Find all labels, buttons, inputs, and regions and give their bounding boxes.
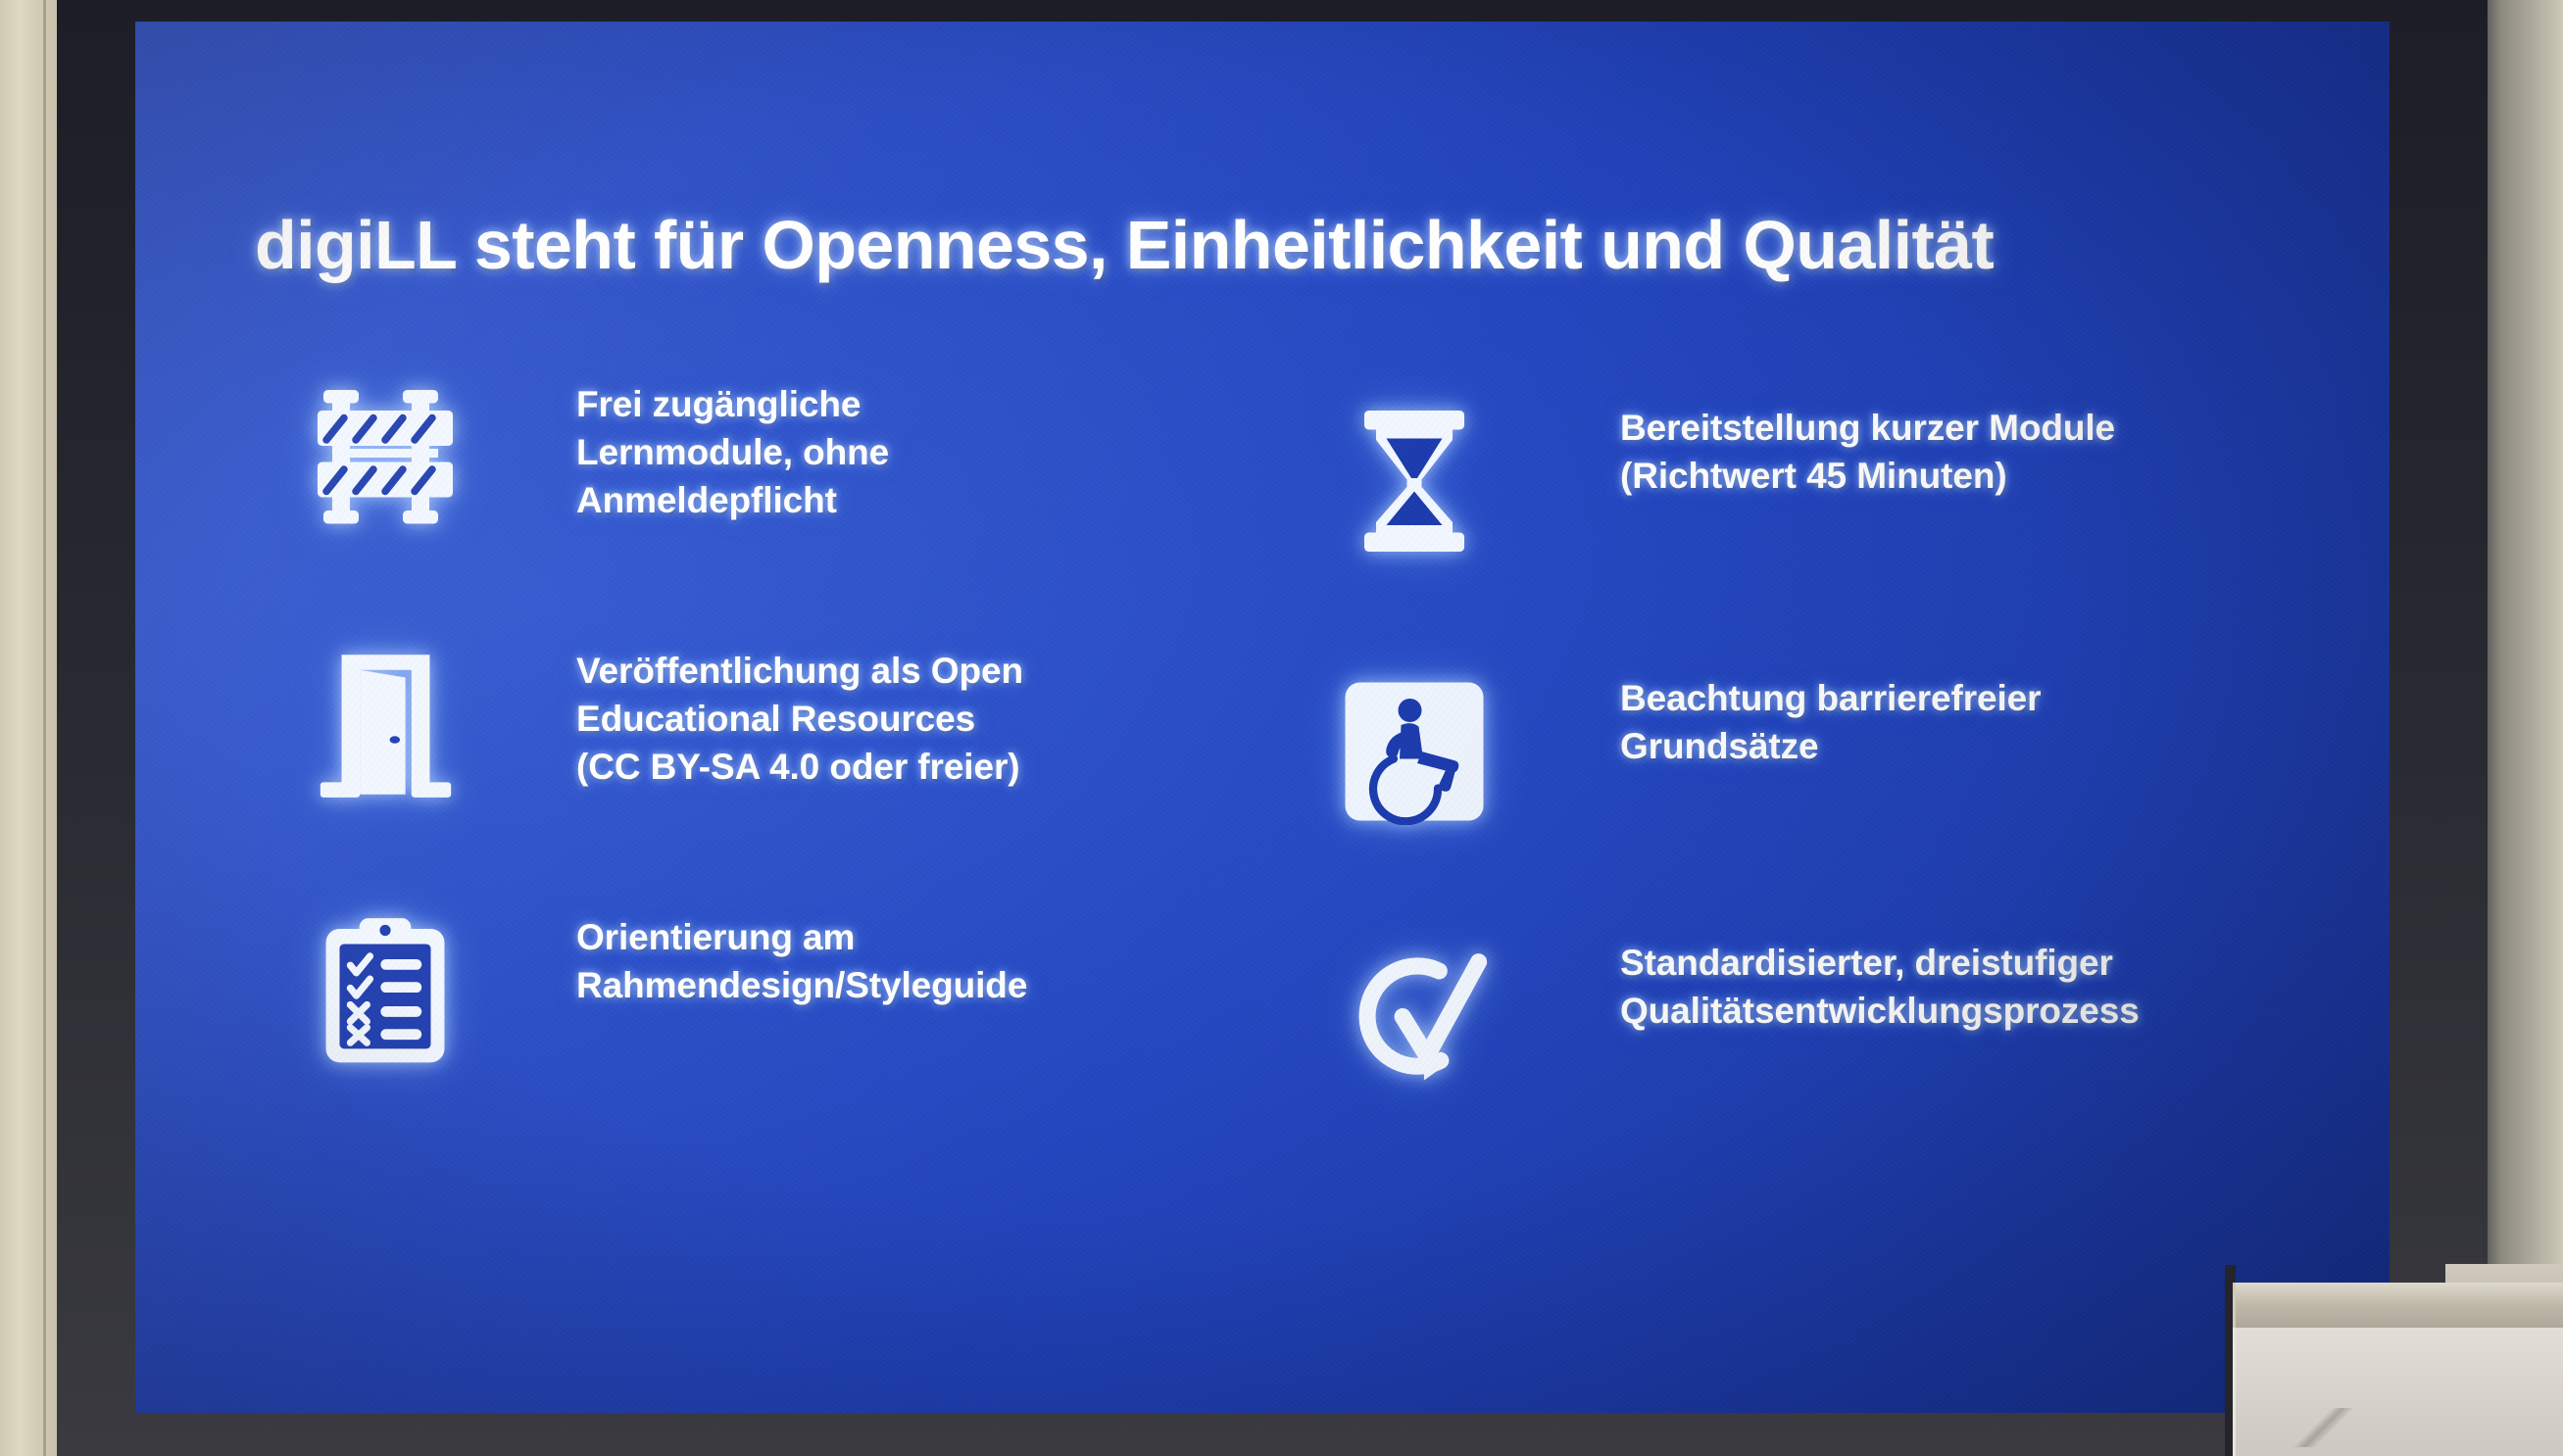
page-title: digiLL steht für Openness, Einheitlichke… — [255, 210, 2264, 282]
feature-text: Standardisierter, dreistufiger Qualitäts… — [1620, 933, 2140, 1035]
feature-item-quality-process: Standardisierter, dreistufiger Qualitäts… — [1331, 933, 2301, 1099]
feature-line: (Richtwert 45 Minuten) — [1620, 452, 2115, 500]
road-barrier-icon — [302, 374, 468, 541]
feature-line: Anmeldepflicht — [576, 476, 889, 524]
projection-screen-frame: digiLL steht für Openness, Einheitlichke… — [57, 0, 2488, 1456]
left-wall — [0, 0, 57, 1456]
feature-text: Bereitstellung kurzer Module (Richtwert … — [1620, 398, 2115, 500]
flipchart-paper-crease — [2261, 1408, 2379, 1447]
feature-line: Beachtung barrierefreier — [1620, 674, 2041, 722]
left-wall-seam — [43, 0, 46, 1456]
flipchart-pad — [2225, 1265, 2563, 1456]
clipboard-checklist-icon — [302, 907, 468, 1074]
flipchart-paper-sheet — [2233, 1328, 2563, 1456]
feature-line: Orientierung am — [576, 913, 1027, 961]
feature-line: Rahmendesign/Styleguide — [576, 961, 1027, 1009]
feature-line: Bereitstellung kurzer Module — [1620, 404, 2115, 452]
hourglass-icon — [1331, 398, 1498, 564]
open-door-icon — [302, 641, 468, 807]
feature-text: Orientierung am Rahmendesign/Styleguide — [576, 907, 1027, 1009]
right-wall — [2475, 0, 2563, 1456]
cycle-checkmark-icon — [1331, 933, 1498, 1099]
lecture-room-background: digiLL steht für Openness, Einheitlichke… — [0, 0, 2563, 1456]
feature-line: Standardisierter, dreistufiger — [1620, 939, 2140, 987]
feature-line: (CC BY-SA 4.0 oder freier) — [576, 743, 1023, 791]
flipchart-rail — [2233, 1283, 2563, 1334]
feature-item-accessibility: Beachtung barrierefreier Grundsätze — [1331, 668, 2301, 835]
feature-item-short-modules: Bereitstellung kurzer Module (Richtwert … — [1331, 398, 2301, 564]
feature-line: Educational Resources — [576, 695, 1023, 743]
wheelchair-accessibility-icon — [1331, 668, 1498, 835]
feature-line: Lernmodule, ohne — [576, 428, 889, 476]
feature-line: Qualitätsentwicklungsprozess — [1620, 987, 2140, 1035]
feature-line: Frei zugängliche — [576, 380, 889, 428]
feature-grid: Frei zugängliche Lernmodule, ohne Anmeld… — [243, 374, 2292, 1197]
feature-text: Beachtung barrierefreier Grundsätze — [1620, 668, 2041, 770]
feature-item-oer-publication: Veröffentlichung als Open Educational Re… — [302, 641, 1243, 807]
feature-line: Grundsätze — [1620, 722, 2041, 770]
feature-item-free-access: Frei zugängliche Lernmodule, ohne Anmeld… — [302, 374, 1243, 541]
feature-line: Veröffentlichung als Open — [576, 647, 1023, 695]
feature-text: Frei zugängliche Lernmodule, ohne Anmeld… — [576, 374, 889, 525]
feature-item-styleguide: Orientierung am Rahmendesign/Styleguide — [302, 907, 1243, 1074]
feature-text: Veröffentlichung als Open Educational Re… — [576, 641, 1023, 792]
presentation-slide: digiLL steht für Openness, Einheitlichke… — [135, 22, 2390, 1413]
